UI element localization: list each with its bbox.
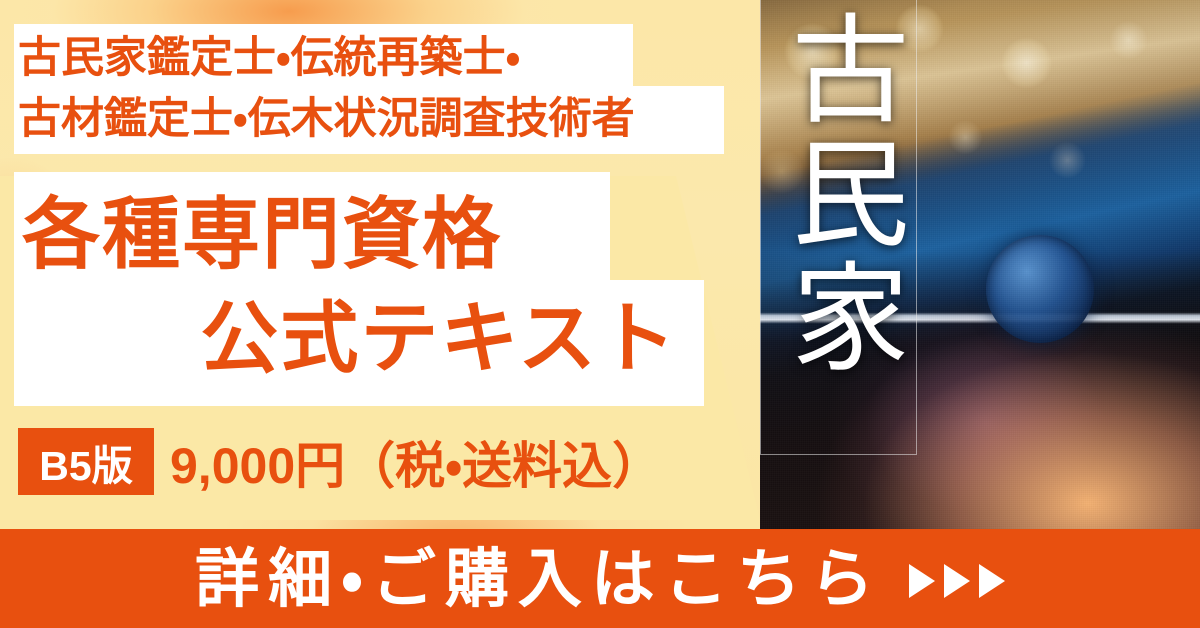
cta-bar[interactable]: 詳細・ご購入はこちら xyxy=(0,529,1200,628)
qualifications-line-1: 古民家鑑定士・伝統再築士・ xyxy=(18,28,724,89)
qualifications-line-2: 古材鑑定士・伝木状況調査技術者 xyxy=(18,89,724,150)
cta-arrows xyxy=(909,564,1005,598)
headline-text: 各種専門資格 公式テキスト xyxy=(22,182,692,390)
headline-line-1: 各種専門資格 xyxy=(22,182,692,286)
triangle-right-icon xyxy=(944,564,970,598)
book-cover-title: 古民家 xyxy=(772,8,904,380)
triangle-right-icon xyxy=(979,564,1005,598)
qualifications-text: 古民家鑑定士・伝統再築士・ 古材鑑定士・伝木状況調査技術者 xyxy=(18,28,724,150)
format-badge: B5版 xyxy=(18,428,154,495)
price-text: 9,000円（税・送料込） xyxy=(170,429,662,495)
promo-banner: 古民家 伝統構法 古民家活用のための調査と再生の 古民家鑑定士・伝統再築士・ 古… xyxy=(0,0,1200,628)
triangle-right-icon xyxy=(909,564,935,598)
cta-label: 詳細・ご購入はこちら xyxy=(195,547,883,611)
headline-line-2: 公式テキスト xyxy=(22,286,692,390)
